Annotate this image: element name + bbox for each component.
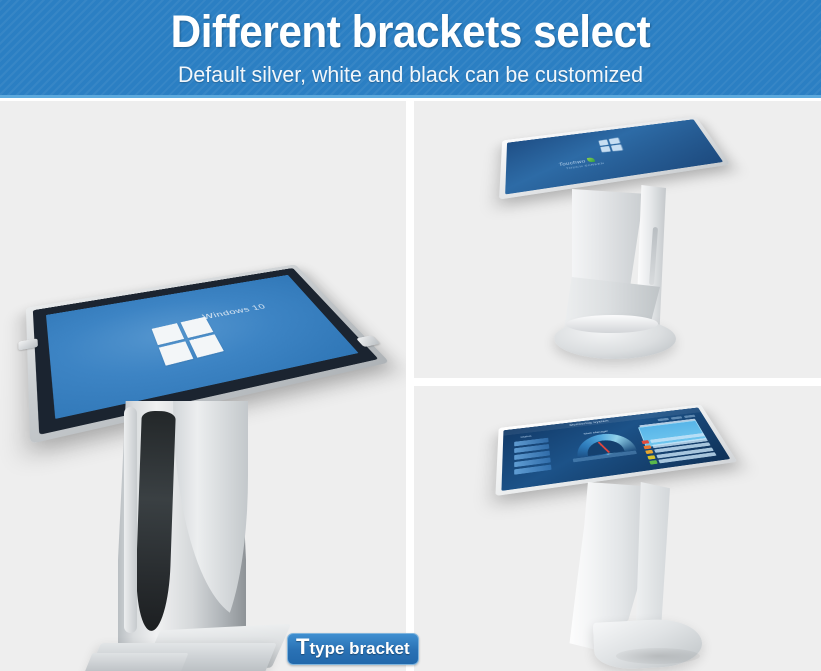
product-panel-s-type[interactable]: Monitoring System Status [414,386,821,671]
status-badge [647,455,655,459]
header-banner: Different brackets select Default silver… [0,0,821,98]
dashboard-status-label: Status [520,434,531,438]
windows-pane [189,334,224,357]
k-type-bezel: Touchwo TOUCH SCREEN [499,116,730,199]
page-title: Different brackets select [25,0,797,58]
dashboard-toolbar-button[interactable] [658,418,670,421]
s-type-stand-side [636,482,670,638]
status-badge [644,445,652,449]
bracket-tag-t-type[interactable]: Ttype bracket [287,633,419,665]
windows-version-label: Windows 10 [201,302,268,320]
t-type-base-foot [84,653,189,671]
t-type-display: Windows 10 [46,275,358,419]
k-type-screen-assembly: Touchwo TOUCH SCREEN [499,116,730,199]
windows-logo-icon [599,138,624,153]
status-badge [642,440,650,444]
k-type-display: Touchwo TOUCH SCREEN [505,119,723,194]
s-type-display: Monitoring System Status [501,407,730,490]
product-image-page: Different brackets select Default silver… [0,0,821,671]
status-badge [646,450,654,454]
dashboard-sidebar[interactable] [514,438,551,475]
product-panel-k-type[interactable]: Touchwo TOUCH SCREEN K type bracket [414,101,821,378]
status-badge [650,460,659,465]
product-panel-t-type[interactable]: Windows 10 [0,101,406,671]
windows-logo-icon [151,317,223,366]
kiosk-illustration-s-type: Monitoring System Status [414,386,821,671]
s-type-base-shadow [616,648,700,664]
dashboard-toolbar-button[interactable] [671,416,683,419]
windows-pane [159,341,193,365]
kiosk-illustration-k-type: Touchwo TOUCH SCREEN [414,101,821,378]
bracket-tag-text: type bracket [309,639,409,659]
t-type-stand-column [118,401,246,671]
page-subtitle: Default silver, white and black can be c… [12,58,808,88]
windows-pane [611,144,623,151]
kiosk-illustration-t-type: Windows 10 [0,101,406,671]
windows-pane [601,146,612,152]
bracket-tag-letter: T [296,637,309,657]
s-type-stand [564,482,682,658]
dashboard-toolbar-button[interactable] [684,415,696,418]
t-type-column-edge [124,407,137,633]
